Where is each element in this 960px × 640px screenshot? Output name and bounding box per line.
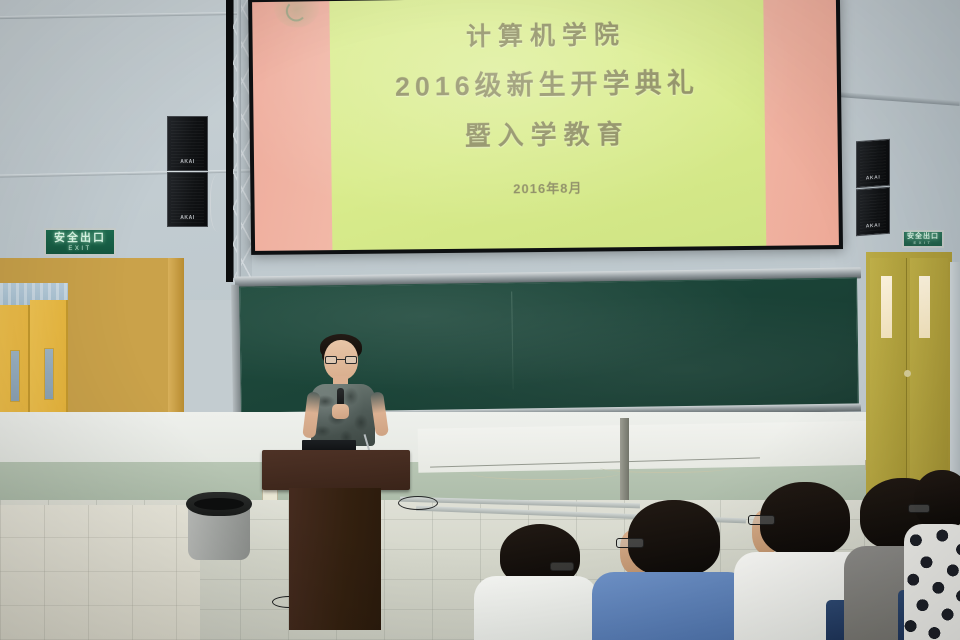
podium [262,440,410,630]
slide-title-line-1: 计算机学院 [466,23,626,50]
audience-member-5 [908,470,960,640]
speaker-left-top: AKAI [167,116,208,171]
trash-can [186,484,252,560]
presenter-hand [332,404,349,419]
speaker-cable-left [210,174,226,232]
truss-pole-left [237,0,241,284]
speaker-right-bottom: AKAI [856,187,890,236]
glasses-icon [616,538,644,548]
slide-band-right [763,0,839,246]
door-window-b [44,348,54,400]
slide-date: 2016年8月 [513,178,582,198]
door-window-a [10,350,20,402]
audience-member-1 [478,524,596,640]
glasses-lens-left [325,356,337,364]
projected-slide: 计算机学院 2016级新生开学典礼 暨入学教育 2016年8月 [252,0,839,251]
audience-5-top [904,524,960,640]
right-door-window-a [881,276,892,338]
glasses-icon [908,504,930,513]
glasses-bridge [337,359,345,360]
presenter-at-podium [300,334,390,454]
exit-sign-left: 安全出口 EXIT [44,228,116,256]
audience-1-top [474,576,598,640]
right-door-window-b [919,276,930,338]
speaker-brand-label: AKAI [168,159,207,165]
exit-sign-left-en: EXIT [68,246,91,252]
speaker-brand-label: AKAI [857,174,889,182]
podium-top-surface [262,450,410,490]
slide-title-line-2: 2016级新生开学典礼 [395,70,699,101]
glasses-icon [550,562,574,571]
lecture-hall-photo: 安全出口 EXIT 安全出口 EXIT AKAI AKAI AKAI AKAI … [0,0,960,640]
projection-screen: 计算机学院 2016级新生开学典礼 暨入学教育 2016年8月 [248,0,843,255]
glasses-icon [325,356,357,364]
audience-5-hair [914,470,960,528]
audience-2-top [592,572,750,640]
audience-member-2 [602,500,742,640]
speaker-right-top: AKAI [856,139,890,188]
slide-text-block: 计算机学院 2016级新生开学典礼 暨入学教育 2016年8月 [329,0,766,250]
right-door-handle[interactable] [904,370,911,377]
exit-sign-right-en: EXIT [914,241,933,245]
slide-title-line-3: 暨入学教育 [465,121,630,149]
exit-sign-right-zh: 安全出口 [907,233,939,240]
exit-sign-left-zh: 安全出口 [54,233,106,244]
slide-band-left [252,1,332,251]
speaker-brand-label: AKAI [857,222,889,230]
speaker-left-bottom: AKAI [167,172,208,227]
wall-cable-sag-1 [470,466,620,480]
glasses-lens-right [345,356,357,364]
right-door-panel-a[interactable] [870,258,907,512]
speaker-brand-label: AKAI [168,215,207,221]
exit-sign-right: 安全出口 EXIT [902,230,944,248]
glasses-icon [748,515,775,525]
floor-left-area [0,505,200,640]
trash-bag-liner [186,492,252,516]
podium-column [289,488,381,630]
